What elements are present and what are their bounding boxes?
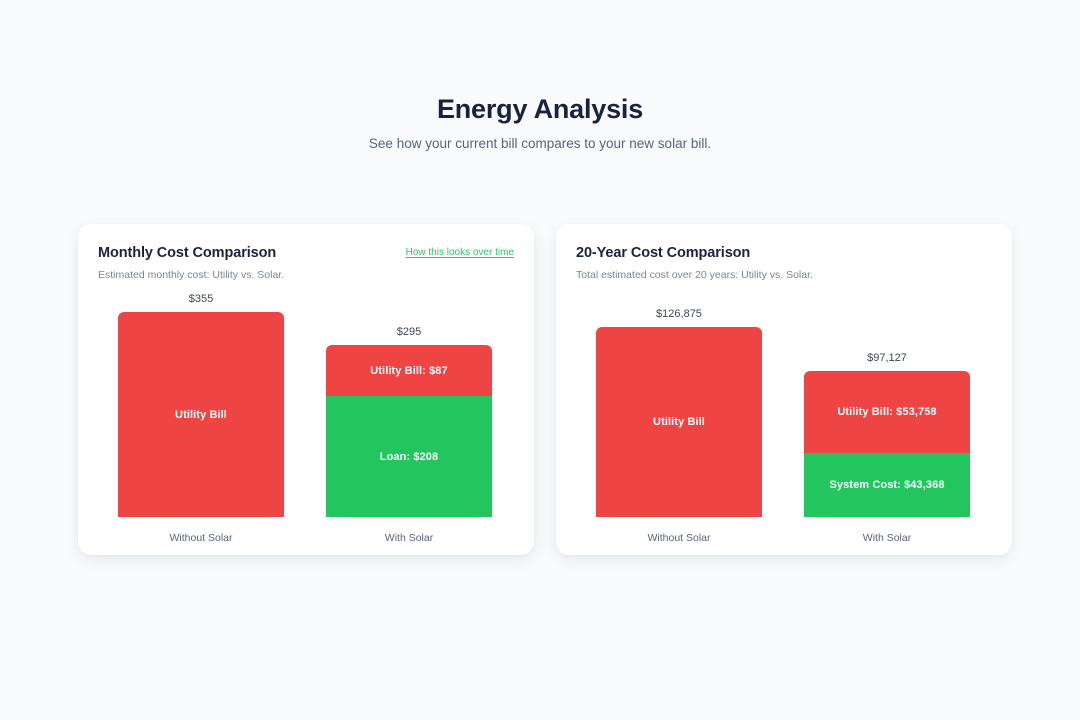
- bar-stack[interactable]: Utility Bill: $87 Loan: $208: [326, 345, 492, 517]
- card-header: 20-Year Cost Comparison Total estimated …: [576, 244, 992, 292]
- page-subtitle: See how your current bill compares to yo…: [0, 135, 1080, 153]
- bar-category-label: With Solar: [804, 531, 970, 545]
- bar-total-label: $355: [118, 292, 284, 306]
- bar-stack[interactable]: Utility Bill: [118, 312, 284, 517]
- bar-segment-loan[interactable]: Loan: $208: [326, 396, 492, 517]
- card-subtitle: Total estimated cost over 20 years: Util…: [576, 268, 992, 282]
- energy-analysis-page: Energy Analysis See how your current bil…: [0, 0, 1080, 720]
- bar-category-label: With Solar: [326, 531, 492, 545]
- bar-category-label: Without Solar: [118, 531, 284, 545]
- bar-stack[interactable]: Utility Bill: $53,758 System Cost: $43,3…: [804, 371, 970, 517]
- bar-stack[interactable]: Utility Bill: [596, 327, 762, 517]
- card-header: Monthly Cost Comparison Estimated monthl…: [98, 244, 514, 292]
- bar-segment-utility-bill[interactable]: Utility Bill: $53,758: [804, 371, 970, 453]
- monthly-cost-bar-chart: $355 Utility Bill Without Solar $295 Uti…: [78, 302, 534, 555]
- card-title: 20-Year Cost Comparison: [576, 244, 992, 263]
- bar-group-without-solar: $126,875 Utility Bill Without Solar: [596, 302, 762, 555]
- monthly-cost-card: Monthly Cost Comparison Estimated monthl…: [78, 224, 534, 555]
- comparison-cards-row: Monthly Cost Comparison Estimated monthl…: [78, 224, 1012, 555]
- bar-total-label: $295: [326, 325, 492, 339]
- page-header: Energy Analysis See how your current bil…: [0, 92, 1080, 153]
- bar-segment-utility-bill[interactable]: Utility Bill: [118, 312, 284, 517]
- twenty-year-cost-card: 20-Year Cost Comparison Total estimated …: [556, 224, 1012, 555]
- card-subtitle: Estimated monthly cost: Utility vs. Sola…: [98, 268, 514, 282]
- page-title: Energy Analysis: [0, 92, 1080, 126]
- bar-segment-utility-bill[interactable]: Utility Bill: [596, 327, 762, 517]
- bar-total-label: $126,875: [596, 307, 762, 321]
- how-this-looks-over-time-link[interactable]: How this looks over time: [406, 246, 514, 259]
- bar-total-label: $97,127: [804, 351, 970, 365]
- bar-group-without-solar: $355 Utility Bill Without Solar: [118, 302, 284, 555]
- bar-segment-utility-bill[interactable]: Utility Bill: $87: [326, 345, 492, 396]
- bar-category-label: Without Solar: [596, 531, 762, 545]
- bar-group-with-solar: $97,127 Utility Bill: $53,758 System Cos…: [804, 302, 970, 555]
- twenty-year-cost-bar-chart: $126,875 Utility Bill Without Solar $97,…: [556, 302, 1012, 555]
- bar-segment-system-cost[interactable]: System Cost: $43,368: [804, 453, 970, 517]
- bar-group-with-solar: $295 Utility Bill: $87 Loan: $208 With S…: [326, 302, 492, 555]
